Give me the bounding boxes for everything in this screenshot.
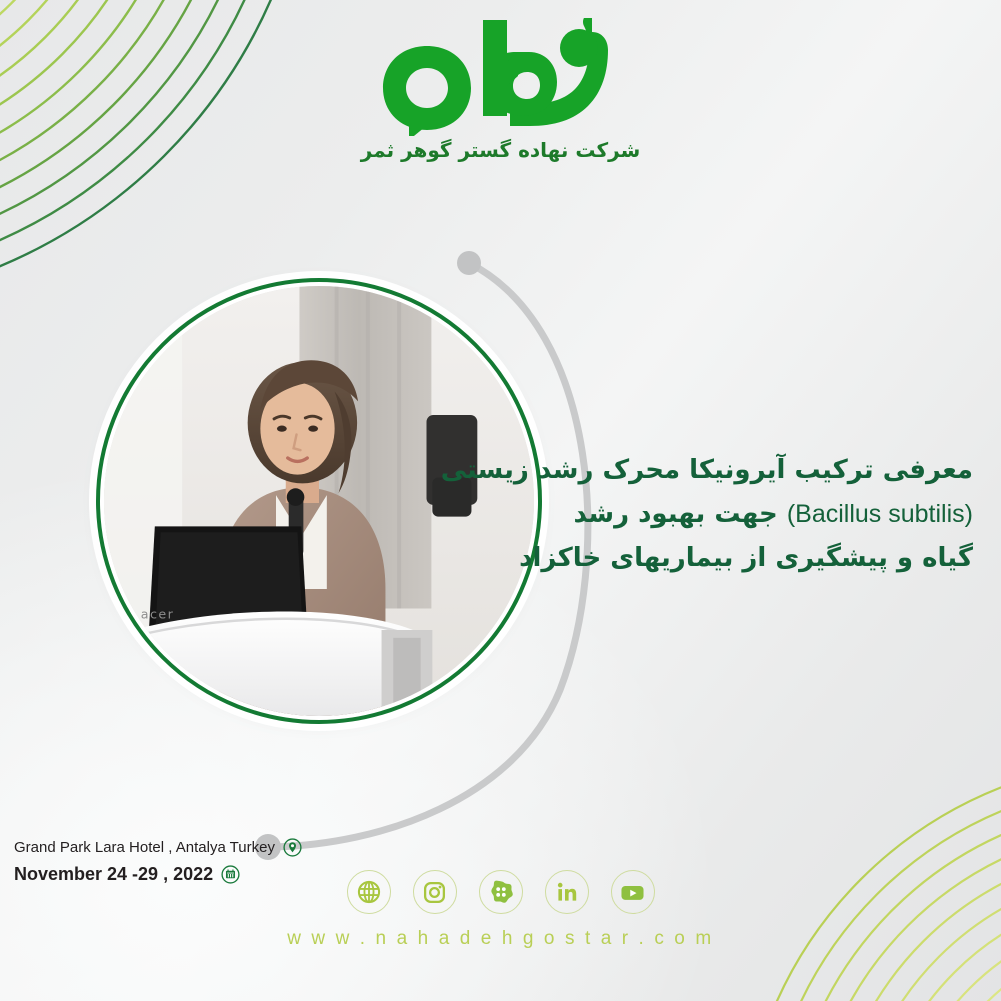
species-name: (Bacillus subtilis) xyxy=(787,500,973,528)
brand-subtitle: شرکت نهاده گستر گوهر ثمر xyxy=(0,138,1001,162)
headline-line-2: (Bacillus subtilis) جهت بهبود رشد xyxy=(353,492,973,536)
website-url[interactable]: w w w . n a h a d e h g o s t a r . c o … xyxy=(0,928,1001,950)
poster-canvas: شرکت نهاده گستر گوهر ثمر xyxy=(0,0,1001,1001)
connector-dot-top xyxy=(457,251,481,275)
instagram-icon[interactable] xyxy=(413,870,457,914)
youtube-icon[interactable] xyxy=(611,870,655,914)
nahadeh-wordmark-icon xyxy=(379,18,623,136)
aparat-icon[interactable] xyxy=(479,870,523,914)
website-icon[interactable] xyxy=(347,870,391,914)
headline-line-1: معرفی ترکیب آیرونیکا محرک رشد زیستی xyxy=(353,448,973,492)
linkedin-icon[interactable] xyxy=(545,870,589,914)
headline-block: معرفی ترکیب آیرونیکا محرک رشد زیستی (Bac… xyxy=(353,448,973,580)
venue-row: Grand Park Lara Hotel , Antalya Turkey xyxy=(14,838,302,857)
brand-logo-block: شرکت نهاده گستر گوهر ثمر xyxy=(0,18,1001,162)
headline-line-2-suffix: جهت بهبود رشد xyxy=(573,499,777,529)
svg-text:acer: acer xyxy=(141,606,175,621)
venue-text: Grand Park Lara Hotel , Antalya Turkey xyxy=(14,839,275,856)
social-links[interactable] xyxy=(0,870,1001,914)
location-pin-icon xyxy=(283,838,302,857)
headline-line-3: گیاه و پیشگیری از بیماریهای خاکزاد xyxy=(353,536,973,580)
